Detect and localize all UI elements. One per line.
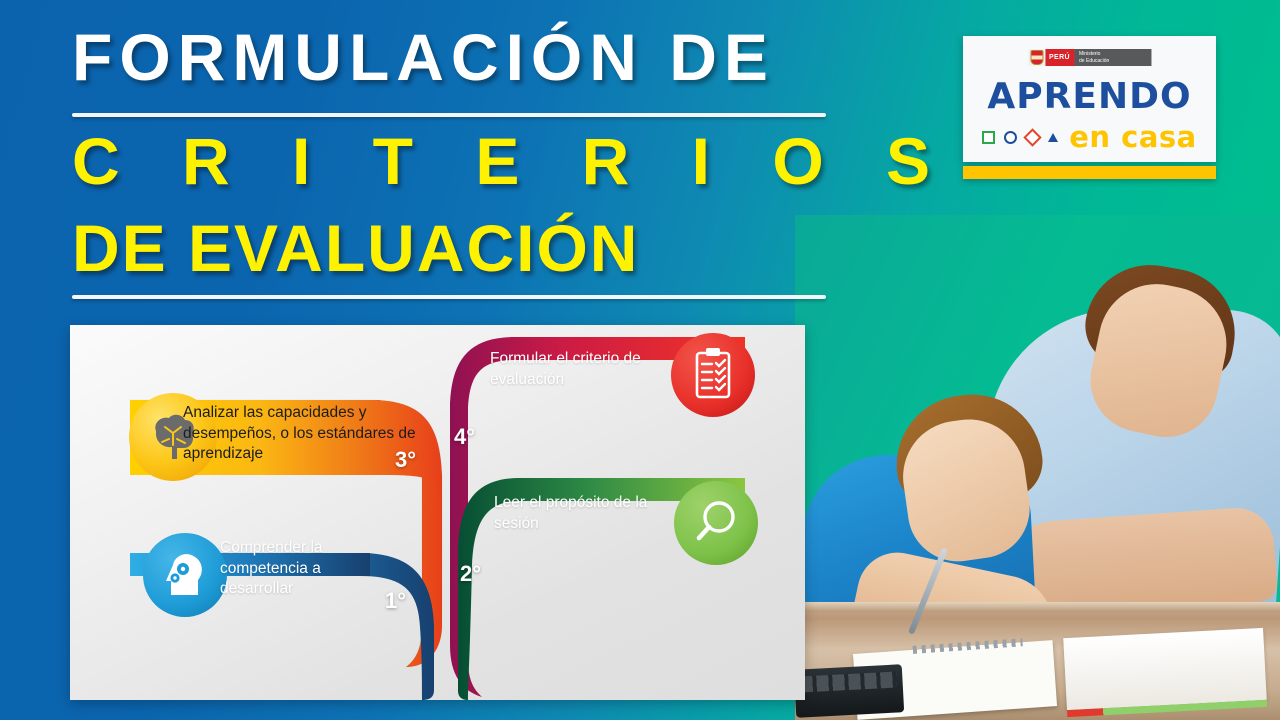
step-4-text: Formular el criterio de evaluación [490,349,690,390]
title-line-1: FORMULACIÓN DE [72,24,775,90]
title-line-3: DE EVALUACIÓN [72,215,639,281]
aprendo-en-casa-logo-card: PERÚ Ministerio de Educación APRENDO en … [963,36,1216,162]
slide-canvas: FORMULACIÓN DE C R I T E R I O S DE EVAL… [0,0,1280,720]
title-line-2: C R I T E R I O S [72,128,952,194]
diagram-ribbons [70,325,805,700]
diagram-panel: Analizar las capacidades y desempeños, o… [70,325,805,700]
step-4-order: 4° [454,424,475,450]
circle-icon [1004,131,1017,144]
triangle-icon [1048,133,1058,142]
step-2-text: Leer el propósito de la sesión [494,493,689,534]
diamond-icon [1024,128,1042,146]
ministry-bar: PERÚ Ministerio de Educación [1028,49,1151,66]
photo-calculator [795,664,904,718]
logo-accent-bar [963,166,1216,179]
brand-bottom-row: en casa [963,120,1216,154]
ministry-line-2: de Educación [1079,58,1145,64]
step-1-text: Comprender la competencia a desarrollar [220,538,395,600]
photo-book [1063,628,1266,710]
title-divider-bottom [72,295,826,299]
brand-aprendo: APRENDO [963,76,1216,117]
step-2-order: 2° [460,561,481,587]
photo-father-and-son [795,215,1280,720]
step-3-order: 3° [395,447,416,473]
ministry-label: Ministerio de Educación [1074,49,1151,66]
peru-shield-icon [1028,49,1045,66]
peru-label: PERÚ [1045,49,1074,66]
square-icon [982,131,995,144]
title-divider-top [72,113,826,117]
step-3-text: Analizar las capacidades y desempeños, o… [183,403,428,465]
brand-en-casa: en casa [1069,120,1197,154]
step-1-order: 1° [385,588,406,614]
brand-shapes [982,131,1058,144]
